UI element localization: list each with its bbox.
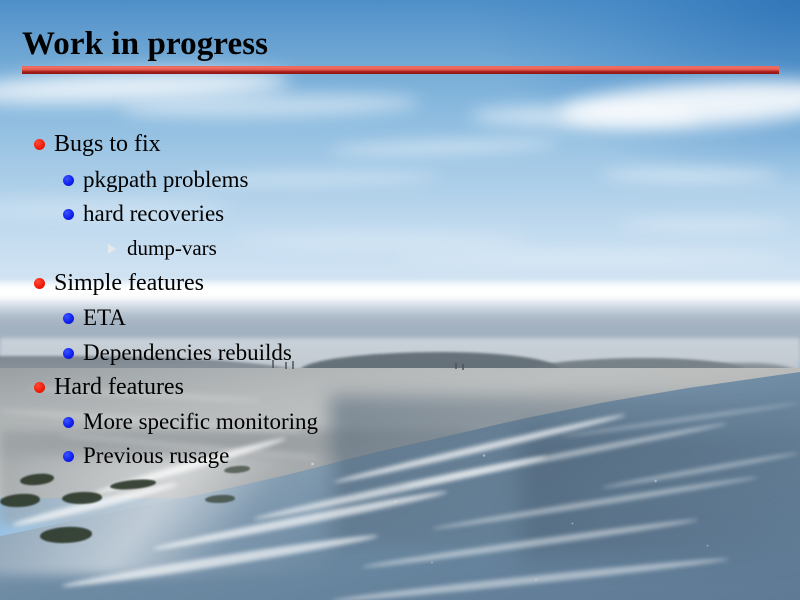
list-item[interactable]: Dependencies rebuilds [63, 340, 292, 366]
red-dot-bullet-icon [34, 382, 45, 393]
list-item[interactable]: More specific monitoring [63, 409, 318, 435]
slide: Work in progress Bugs to fix pkgpath pro… [0, 0, 800, 600]
list-item[interactable]: Bugs to fix [34, 131, 161, 158]
list-item[interactable]: hard recoveries [63, 201, 224, 227]
list-item-label: Bugs to fix [54, 131, 161, 158]
list-item-label: hard recoveries [83, 201, 224, 227]
list-item[interactable]: Previous rusage [63, 443, 229, 469]
list-item[interactable]: dump-vars [108, 236, 217, 261]
blue-dot-bullet-icon [63, 417, 74, 428]
list-item-label: More specific monitoring [83, 409, 318, 435]
bullet-list: Bugs to fix pkgpath problems hard recove… [0, 0, 800, 600]
blue-dot-bullet-icon [63, 348, 74, 359]
list-item[interactable]: ETA [63, 305, 126, 331]
blue-dot-bullet-icon [63, 451, 74, 462]
list-item-label: Dependencies rebuilds [83, 340, 292, 366]
blue-dot-bullet-icon [63, 175, 74, 186]
list-item-label: Hard features [54, 374, 184, 401]
list-item-label: pkgpath problems [83, 167, 248, 193]
list-item-label: Previous rusage [83, 443, 229, 469]
blue-dot-bullet-icon [63, 209, 74, 220]
gray-triangle-bullet-icon [108, 244, 116, 254]
red-dot-bullet-icon [34, 278, 45, 289]
list-item[interactable]: Hard features [34, 374, 184, 401]
list-item[interactable]: Simple features [34, 270, 204, 297]
blue-dot-bullet-icon [63, 313, 74, 324]
list-item[interactable]: pkgpath problems [63, 167, 248, 193]
red-dot-bullet-icon [34, 139, 45, 150]
list-item-label: dump-vars [127, 236, 217, 261]
list-item-label: ETA [83, 305, 126, 331]
list-item-label: Simple features [54, 270, 204, 297]
